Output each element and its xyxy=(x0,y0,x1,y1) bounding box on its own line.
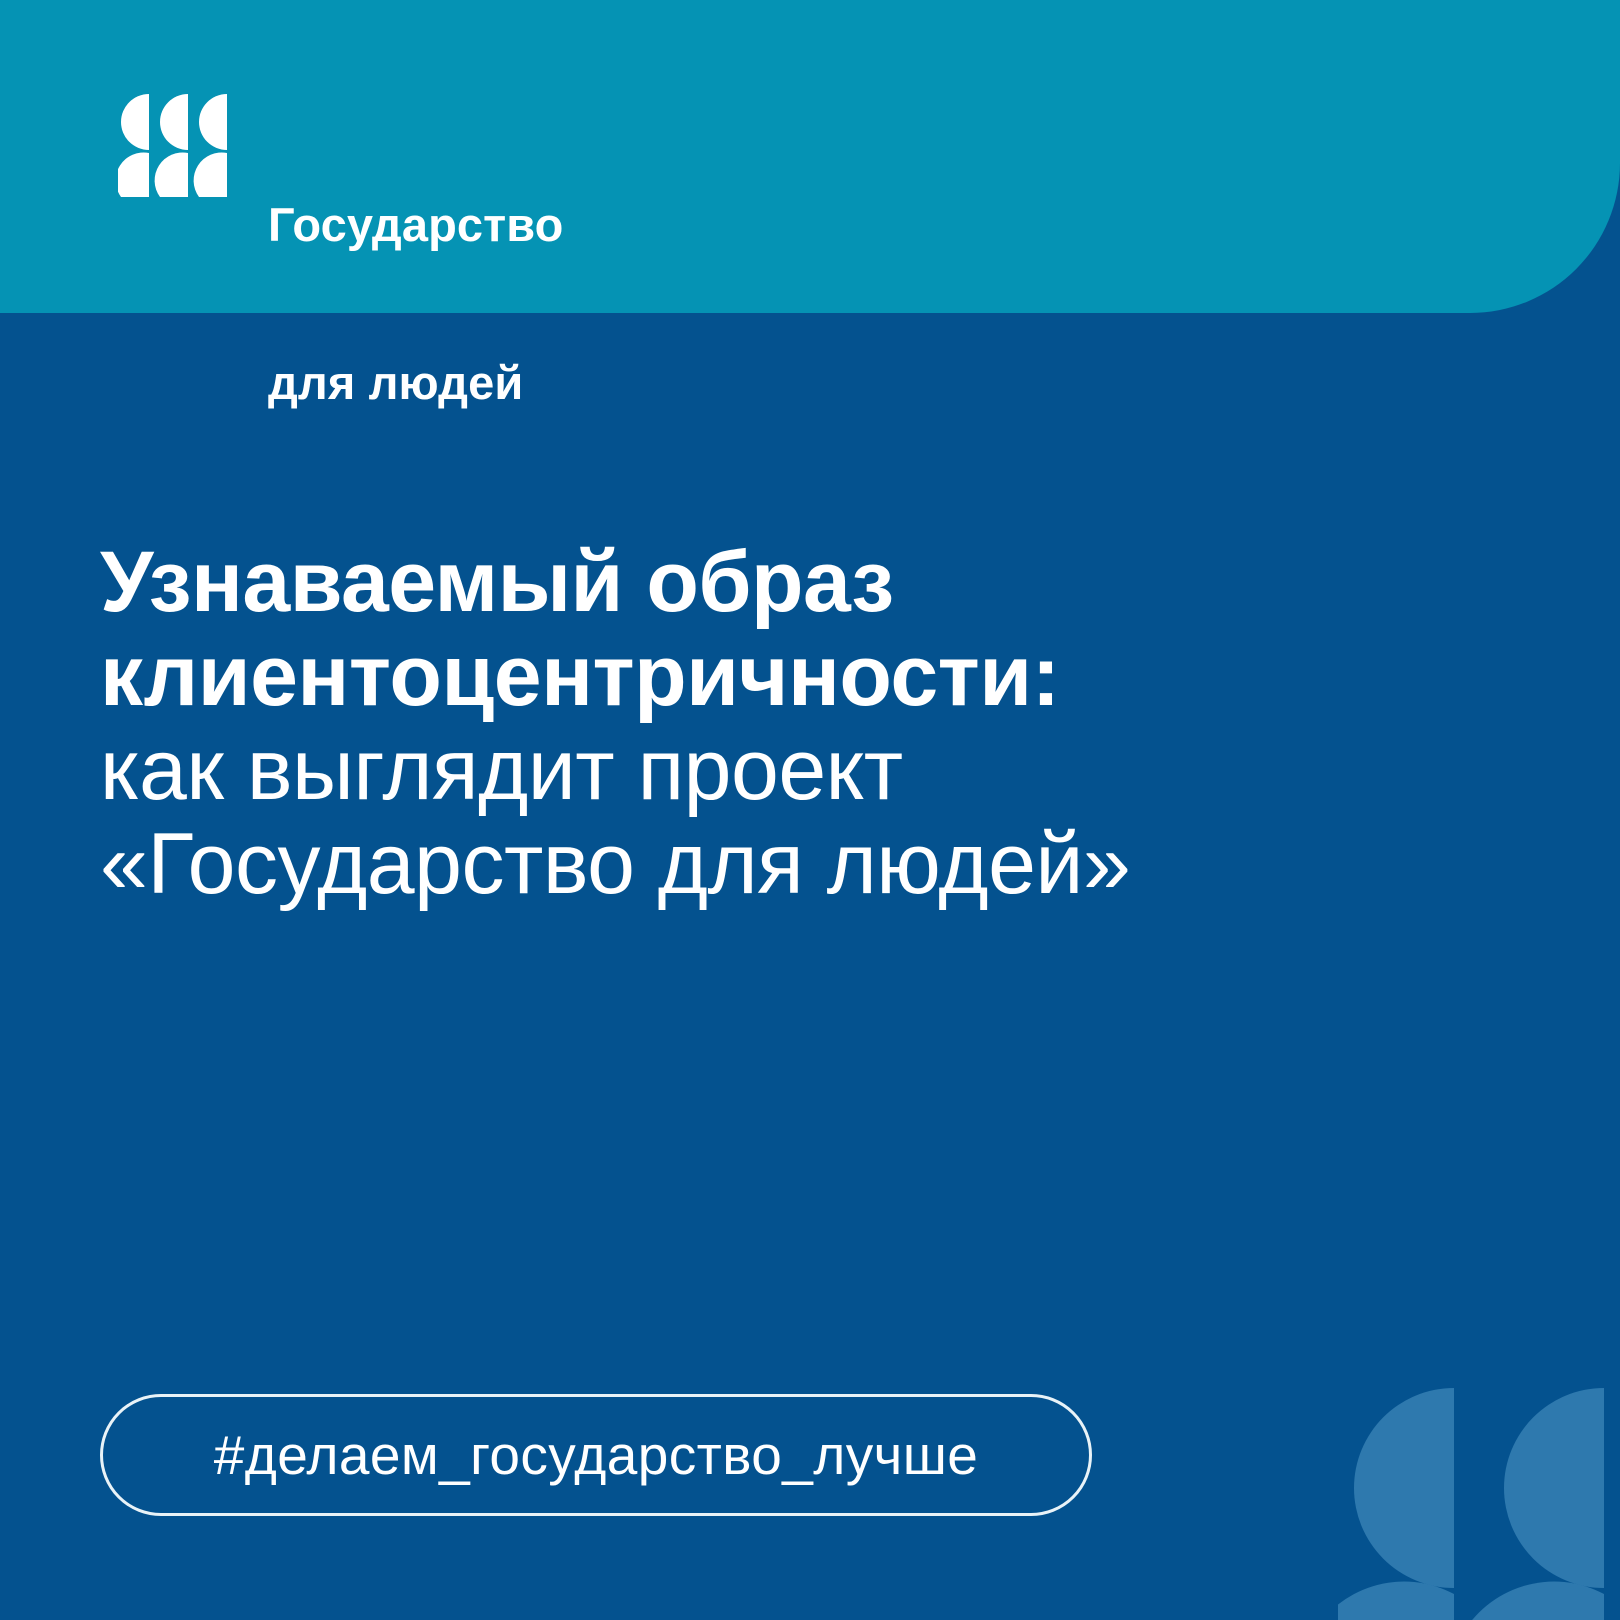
three-people-watermark-icon xyxy=(1338,1382,1620,1620)
brand-wordmark: Государство для людей xyxy=(268,94,563,515)
brand-wordmark-line-1: Государство xyxy=(268,199,563,252)
brand-lockup[interactable]: Государство для людей xyxy=(118,92,563,515)
page-title: Узнаваемый образ клиентоцентричности: ка… xyxy=(100,535,1400,911)
poster-canvas: Государство для людей Узнаваемый образ к… xyxy=(0,0,1620,1620)
headline-line-2: клиентоцентричности: xyxy=(100,629,1400,723)
three-people-logo-icon xyxy=(118,92,230,199)
headline-line-3: как выглядит проект xyxy=(100,723,1400,817)
headline-line-1: Узнаваемый образ xyxy=(100,535,1400,629)
hashtag-label: #делаем_государство_лучше xyxy=(214,1423,978,1487)
headline-line-4: «Государство для людей» xyxy=(100,817,1400,911)
hashtag-pill[interactable]: #делаем_государство_лучше xyxy=(100,1394,1092,1516)
brand-wordmark-line-2: для людей xyxy=(268,357,563,410)
